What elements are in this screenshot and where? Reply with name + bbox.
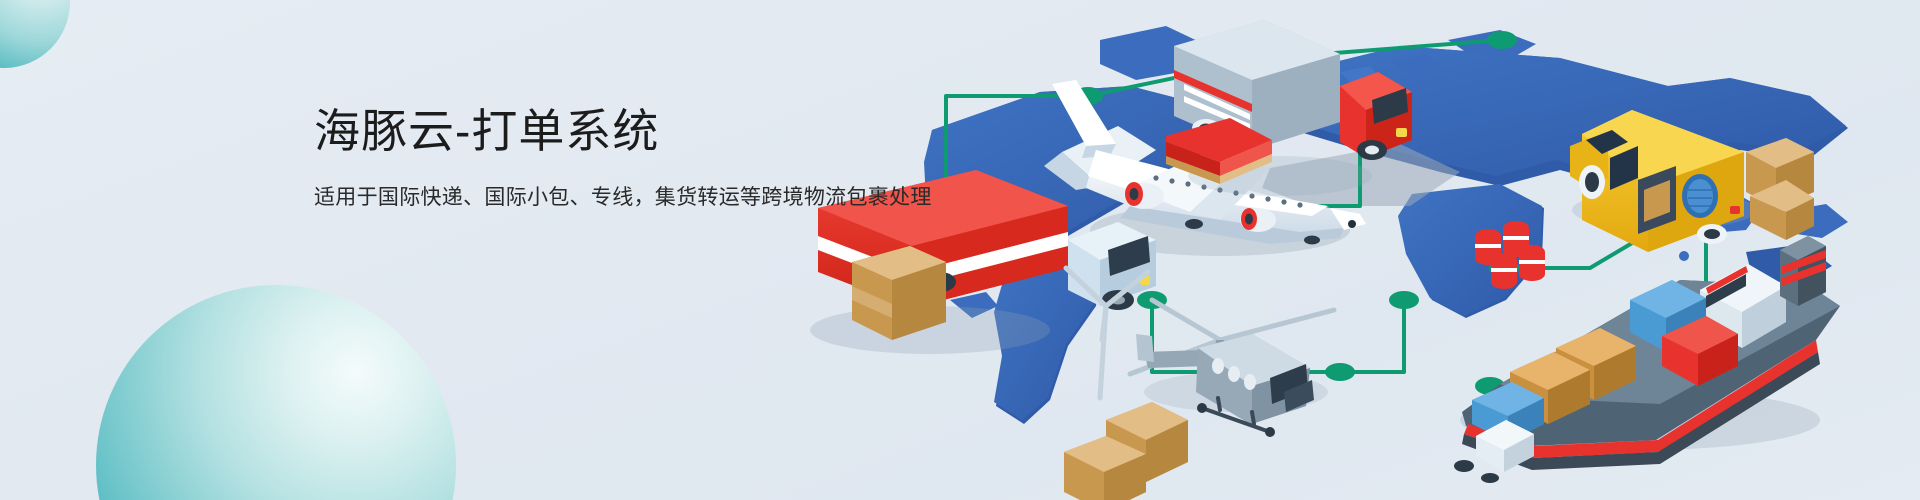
route-node <box>1487 31 1517 49</box>
airplane-engine <box>1240 208 1276 232</box>
hero-banner: 海豚云-打单系统 适用于国际快递、国际小包、专线，集货转运等跨境物流包裹处理 <box>0 0 1920 500</box>
teal-gradient-circle-top-left <box>0 0 70 68</box>
page-subtitle: 适用于国际快递、国际小包、专线，集货转运等跨境物流包裹处理 <box>314 184 932 211</box>
cardboard-boxes-icon <box>1064 402 1188 500</box>
cardboard-boxes-icon <box>1746 138 1814 240</box>
logistics-illustration <box>800 0 1920 500</box>
route-node <box>1325 363 1355 381</box>
route-node <box>1389 291 1419 309</box>
teal-gradient-circle-bottom-left <box>96 285 456 500</box>
banner-text-block: 海豚云-打单系统 适用于国际快递、国际小包、专线，集货转运等跨境物流包裹处理 <box>314 104 932 212</box>
cardboard-boxes-icon <box>852 246 946 340</box>
page-title: 海豚云-打单系统 <box>314 104 932 158</box>
